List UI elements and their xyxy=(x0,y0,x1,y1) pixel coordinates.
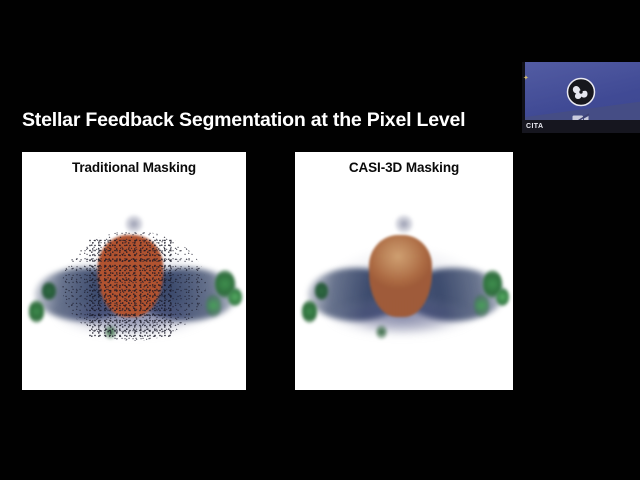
star-icon: ✦ xyxy=(523,76,528,81)
gas-knot xyxy=(474,294,489,316)
panel-caption-traditional: Traditional Masking xyxy=(22,152,246,175)
core-plume xyxy=(395,215,412,233)
gas-knot xyxy=(206,294,222,316)
gas-knot xyxy=(315,282,328,300)
gas-knot xyxy=(29,300,45,322)
core-texture xyxy=(369,235,432,317)
gas-knot xyxy=(228,288,241,306)
dense-core-region xyxy=(369,235,432,317)
panel-caption-casi3d: CASI-3D Masking xyxy=(295,152,513,175)
page-title: Stellar Feedback Segmentation at the Pix… xyxy=(22,107,522,133)
masking-noise-speckle-dense xyxy=(89,239,174,337)
simulation-render-traditional xyxy=(22,186,246,390)
obs-logo-icon xyxy=(565,76,597,108)
simulation-render-casi3d xyxy=(295,186,513,390)
gas-knot xyxy=(376,325,387,339)
comparison-panel-traditional: Traditional Masking xyxy=(22,152,246,390)
webcam-overlay[interactable]: ✦ CITA xyxy=(522,62,640,133)
comparison-panel-casi3d: CASI-3D Masking xyxy=(295,152,513,390)
overlay-source-label: CITA xyxy=(526,121,543,132)
gas-knot xyxy=(302,300,317,322)
presentation-slide: Stellar Feedback Segmentation at the Pix… xyxy=(0,0,640,480)
gas-knot xyxy=(496,288,509,306)
gas-knot xyxy=(42,282,55,300)
